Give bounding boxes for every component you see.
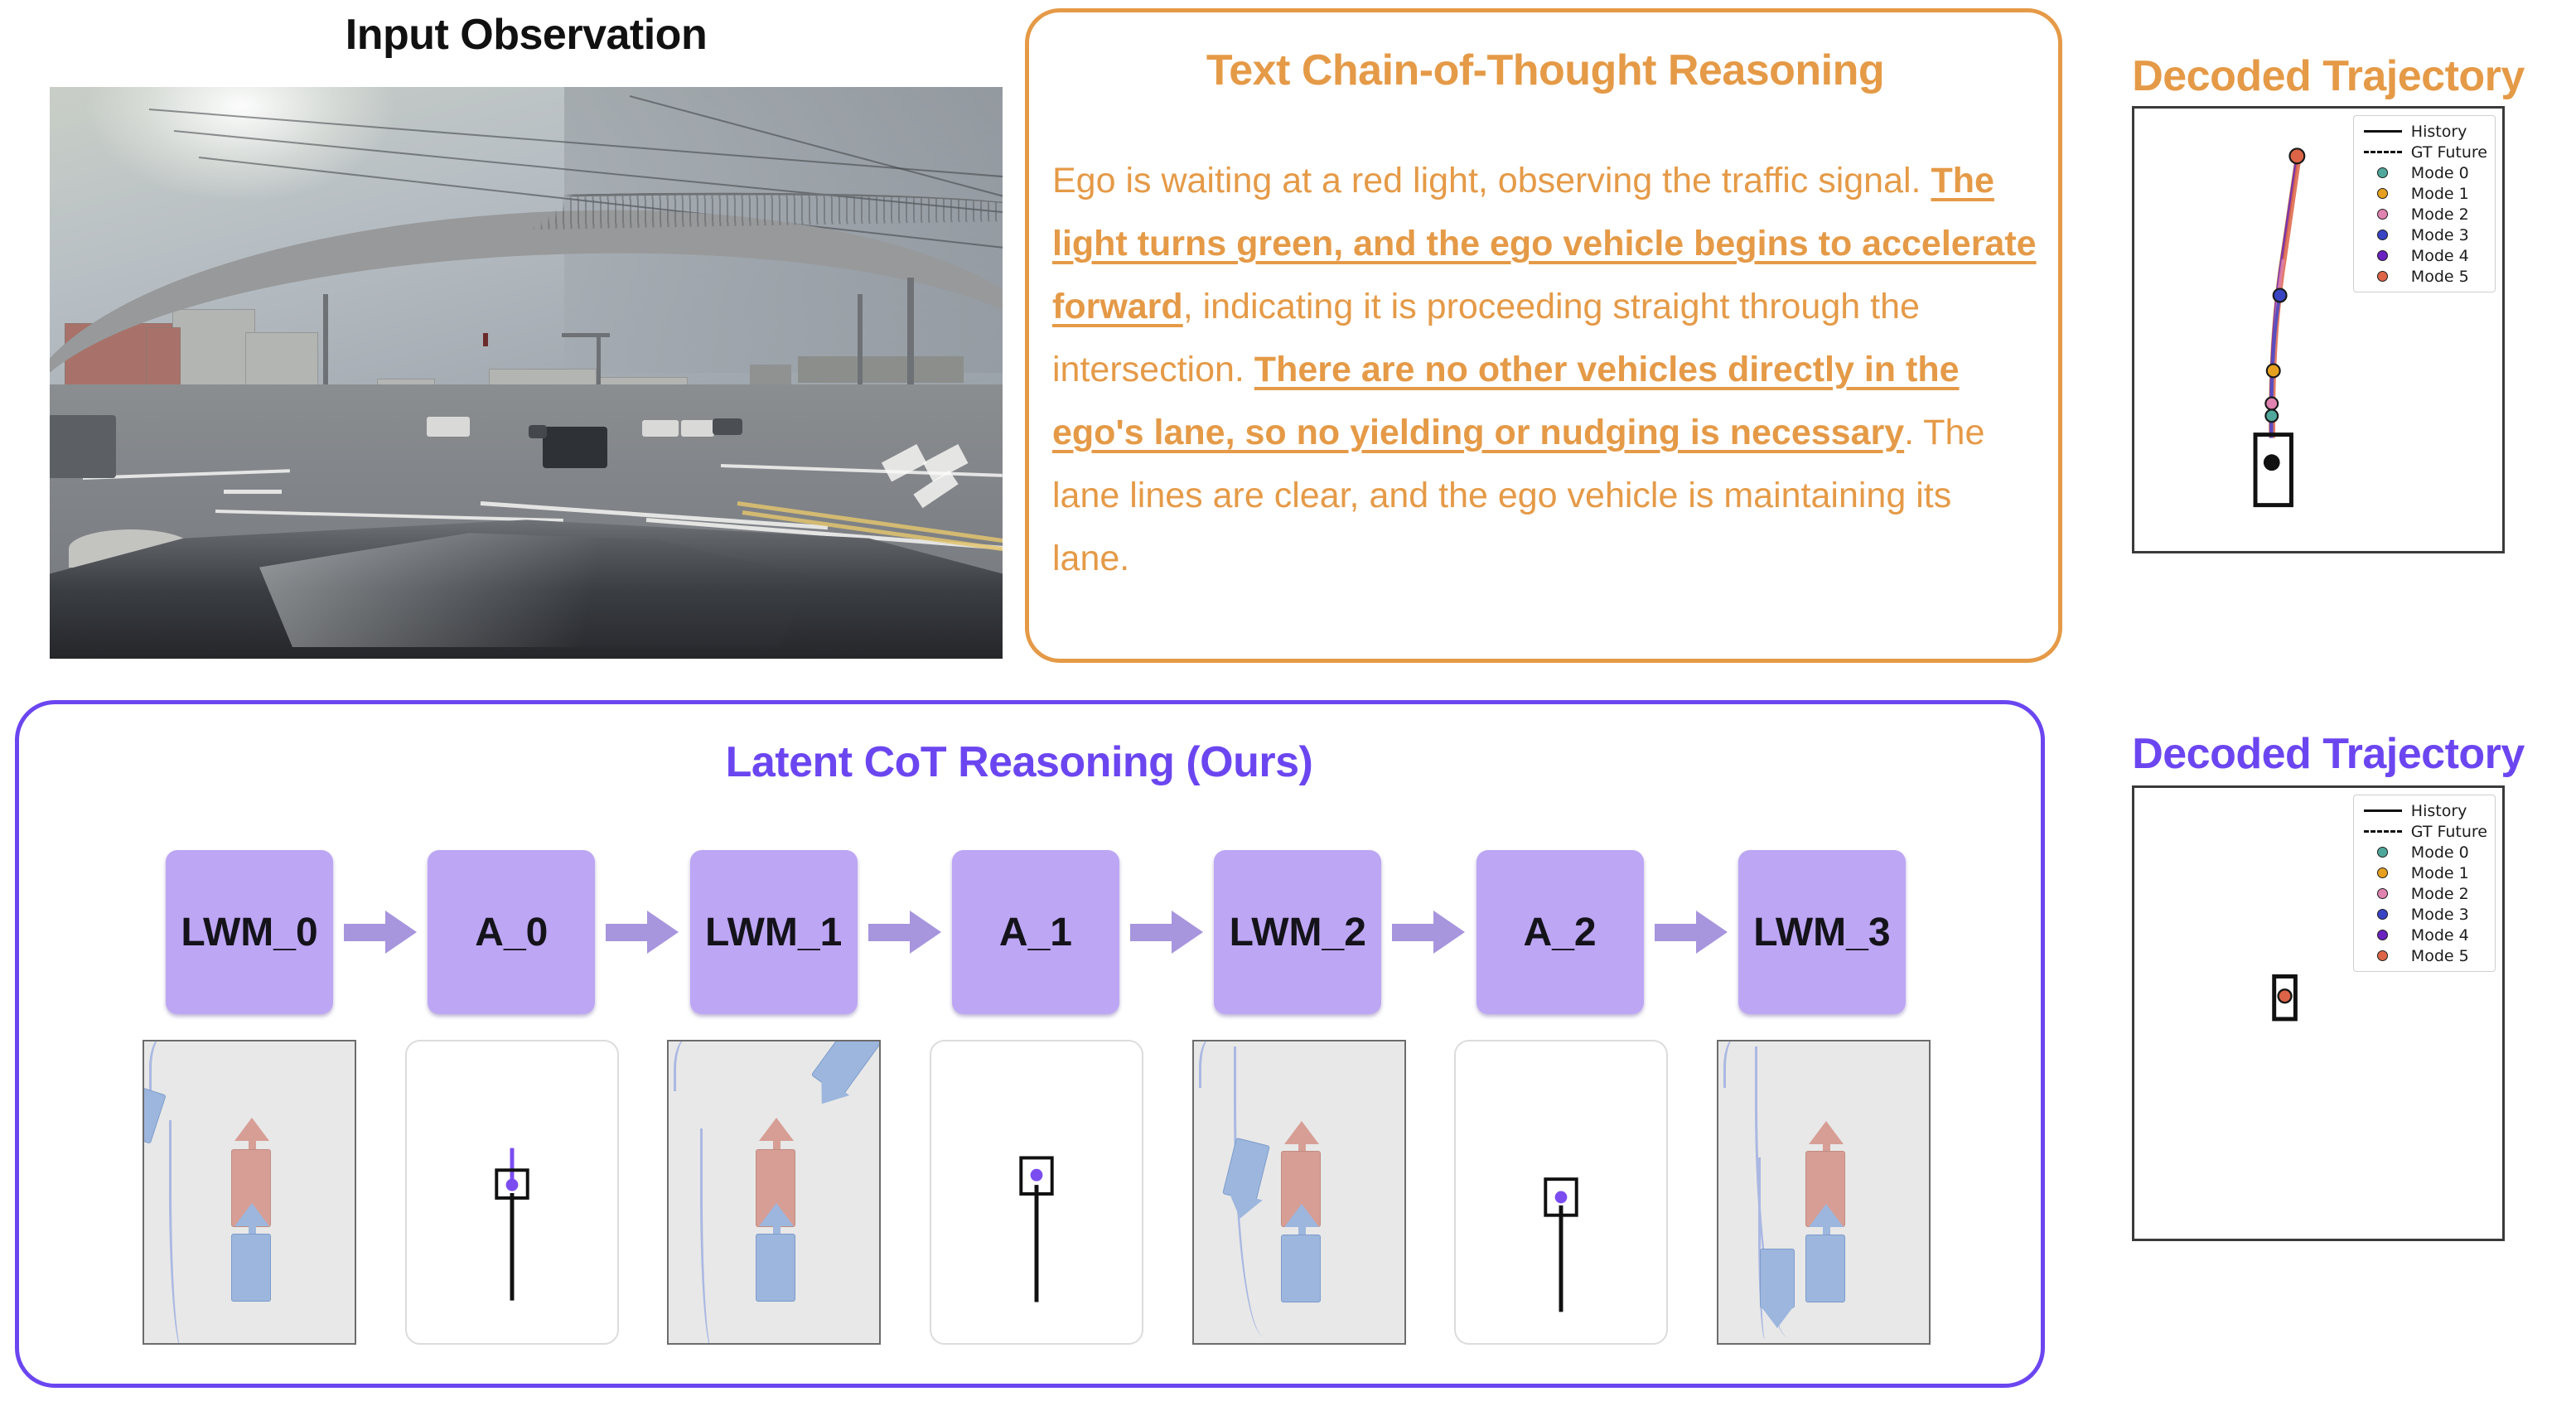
ego-vehicle-bev — [756, 1234, 795, 1302]
legend-item-history: History — [2360, 121, 2487, 142]
pipeline-node-lwm-0[interactable]: LWM_0 — [166, 850, 333, 1014]
lane-boundary — [700, 1128, 718, 1345]
pipeline-node-lwm-2[interactable]: LWM_2 — [1214, 850, 1381, 1014]
cot-plain-segment: Ego is waiting at a red light, observing… — [1052, 161, 1931, 201]
other-vehicle — [427, 417, 470, 437]
mode-1-marker-icon — [2360, 867, 2406, 878]
decoded-trajectory-title-bottom: Decoded Trajectory — [2080, 729, 2576, 779]
text-cot-paragraph: Ego is waiting at a red light, observing… — [1052, 149, 2038, 590]
mode-2-marker-icon — [2360, 888, 2406, 899]
legend-item-mode-0: Mode 0 — [2360, 162, 2487, 183]
right-arrow-icon — [1130, 911, 1203, 954]
legend-item-gt-future: GT Future — [2360, 821, 2487, 842]
mode-4-marker-icon — [2360, 250, 2406, 261]
pipeline-node-lwm-3[interactable]: LWM_3 — [1738, 850, 1906, 1014]
legend-item-mode-3: Mode 3 — [2360, 904, 2487, 925]
legend-top: History GT Future Mode 0 Mode 1 Mode 2 M… — [2353, 115, 2496, 292]
legend-item-mode-4: Mode 4 — [2360, 245, 2487, 266]
history-line-icon — [2360, 809, 2406, 812]
input-observation-image — [50, 87, 1003, 659]
lane-marking — [224, 490, 282, 494]
right-arrow-icon — [1392, 911, 1465, 954]
mode-5-marker-icon — [2360, 271, 2406, 282]
right-arrow-icon — [868, 911, 941, 954]
bev-thumbnail-lwm-1 — [667, 1040, 881, 1345]
legend-item-mode-0: Mode 0 — [2360, 842, 2487, 863]
legend-item-mode-5: Mode 5 — [2360, 945, 2487, 966]
latent-cot-thumbnails — [143, 1040, 1931, 1346]
action-trajectory-a-2 — [1456, 1041, 1666, 1343]
action-trajectory-a-1 — [931, 1041, 1142, 1343]
pipeline-node-a-2[interactable]: A_2 — [1476, 850, 1644, 1014]
text-cot-title: Text Chain-of-Thought Reasoning — [1032, 46, 2059, 95]
bridge-span — [798, 356, 964, 383]
mode-0-marker-icon — [2360, 847, 2406, 858]
ego-vehicle-bev — [1281, 1235, 1321, 1302]
legend-item-mode-5: Mode 5 — [2360, 266, 2487, 287]
pipeline-node-a-1[interactable]: A_1 — [952, 850, 1119, 1014]
legend-item-history: History — [2360, 800, 2487, 821]
legend-item-mode-2: Mode 2 — [2360, 204, 2487, 225]
mode-5-marker-icon — [2360, 950, 2406, 961]
legend-item-mode-3: Mode 3 — [2360, 225, 2487, 245]
mode-1-marker-icon — [2360, 188, 2406, 199]
latent-cot-title: Latent CoT Reasoning (Ours) — [25, 737, 2013, 787]
action-thumbnail-a-0 — [405, 1040, 619, 1345]
mode-4-marker-icon — [2360, 930, 2406, 940]
mode-0-marker-icon — [2360, 167, 2406, 178]
other-vehicle — [713, 418, 742, 435]
legend-bottom: History GT Future Mode 0 Mode 1 Mode 2 M… — [2353, 795, 2496, 972]
pipeline-node-lwm-1[interactable]: LWM_1 — [690, 850, 858, 1014]
other-vehicle — [529, 425, 547, 438]
right-arrow-icon — [606, 911, 679, 954]
figure-canvas: Input Observation — [0, 0, 2576, 1411]
lane-boundary — [1199, 1040, 1220, 1088]
legend-item-mode-2: Mode 2 — [2360, 883, 2487, 904]
lane-boundary — [674, 1040, 698, 1091]
mode-2-marker-icon — [2360, 209, 2406, 220]
action-thumbnail-a-1 — [930, 1040, 1143, 1345]
other-vehicle — [50, 415, 116, 478]
traffic-signal-mast — [562, 333, 610, 337]
action-thumbnail-a-2 — [1454, 1040, 1668, 1345]
gt-future-dashed-icon — [2360, 830, 2406, 833]
mode-3-marker-icon — [2360, 230, 2406, 240]
ego-vehicle-bev — [1805, 1235, 1845, 1302]
history-line-icon — [2360, 130, 2406, 133]
decoded-trajectory-plot-top: History GT Future Mode 0 Mode 1 Mode 2 M… — [2132, 106, 2505, 553]
lane-boundary — [169, 1120, 189, 1345]
decoded-trajectory-plot-bottom: History GT Future Mode 0 Mode 1 Mode 2 M… — [2132, 785, 2505, 1241]
other-vehicle — [642, 420, 679, 437]
other-vehicle — [543, 427, 607, 468]
other-vehicle-bev — [1760, 1249, 1795, 1308]
bev-thumbnail-lwm-0 — [143, 1040, 356, 1345]
legend-item-mode-1: Mode 1 — [2360, 863, 2487, 883]
other-vehicle-bev — [143, 1086, 167, 1143]
right-arrow-icon — [1655, 911, 1728, 954]
right-arrow-icon — [344, 911, 417, 954]
latent-cot-pipeline: LWM_0 A_0 LWM_1 A_1 LWM_2 A_2 LWM_3 — [166, 849, 1906, 1015]
lane-boundary — [1723, 1040, 1745, 1088]
action-trajectory-a-0 — [407, 1041, 617, 1343]
legend-item-gt-future: GT Future — [2360, 142, 2487, 162]
mode-3-marker-icon — [2360, 909, 2406, 920]
legend-item-mode-1: Mode 1 — [2360, 183, 2487, 204]
other-vehicle — [681, 420, 714, 437]
lane-boundary — [149, 1040, 177, 1091]
heading-arrow-icon — [1760, 1305, 1795, 1328]
bev-thumbnail-lwm-3 — [1717, 1040, 1931, 1345]
legend-item-mode-4: Mode 4 — [2360, 925, 2487, 945]
decoded-trajectory-title-top: Decoded Trajectory — [2080, 51, 2576, 101]
bev-thumbnail-lwm-2 — [1192, 1040, 1406, 1345]
gt-future-dashed-icon — [2360, 151, 2406, 153]
input-observation-title: Input Observation — [50, 10, 1003, 60]
ego-vehicle-bev — [231, 1234, 271, 1302]
traffic-light-red — [483, 333, 488, 346]
pipeline-node-a-0[interactable]: A_0 — [428, 850, 595, 1014]
